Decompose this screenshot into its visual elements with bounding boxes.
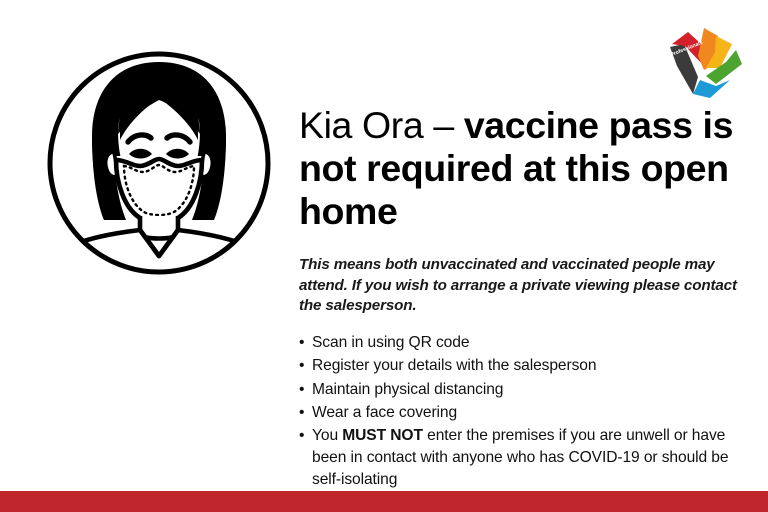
professionals-logo: Professionals [660, 22, 752, 104]
list-item: Register your details with the salespers… [299, 355, 751, 377]
headline-lead: Kia Ora – [299, 104, 464, 146]
list-item: Maintain physical distancing [299, 379, 751, 401]
list-item: You MUST NOT enter the premises if you a… [299, 425, 751, 491]
poster: Professionals [0, 0, 768, 512]
list-item-text: Maintain physical distancing [312, 381, 503, 398]
masked-woman-illustration [44, 48, 274, 278]
list-item-text: Scan in using QR code [312, 334, 469, 351]
list-item: Scan in using QR code [299, 332, 751, 354]
bottom-accent-bar [0, 491, 768, 512]
list-item-emphasis: MUST NOT [342, 427, 423, 444]
page-title: Kia Ora – vaccine pass is not required a… [299, 104, 751, 232]
star-logo-icon: Professionals [660, 22, 752, 104]
masked-woman-icon [44, 48, 274, 278]
list-item-text: Register your details with the salespers… [312, 357, 596, 374]
list-item-text: You [312, 427, 342, 444]
text-column: Kia Ora – vaccine pass is not required a… [299, 104, 751, 492]
intro-paragraph: This means both unvaccinated and vaccina… [299, 232, 751, 316]
list-item: Wear a face covering [299, 402, 751, 424]
list-item-text: Wear a face covering [312, 404, 457, 421]
headline-strong: vaccine pass [464, 104, 693, 146]
instructions-list: Scan in using QR code Register your deta… [299, 316, 751, 491]
